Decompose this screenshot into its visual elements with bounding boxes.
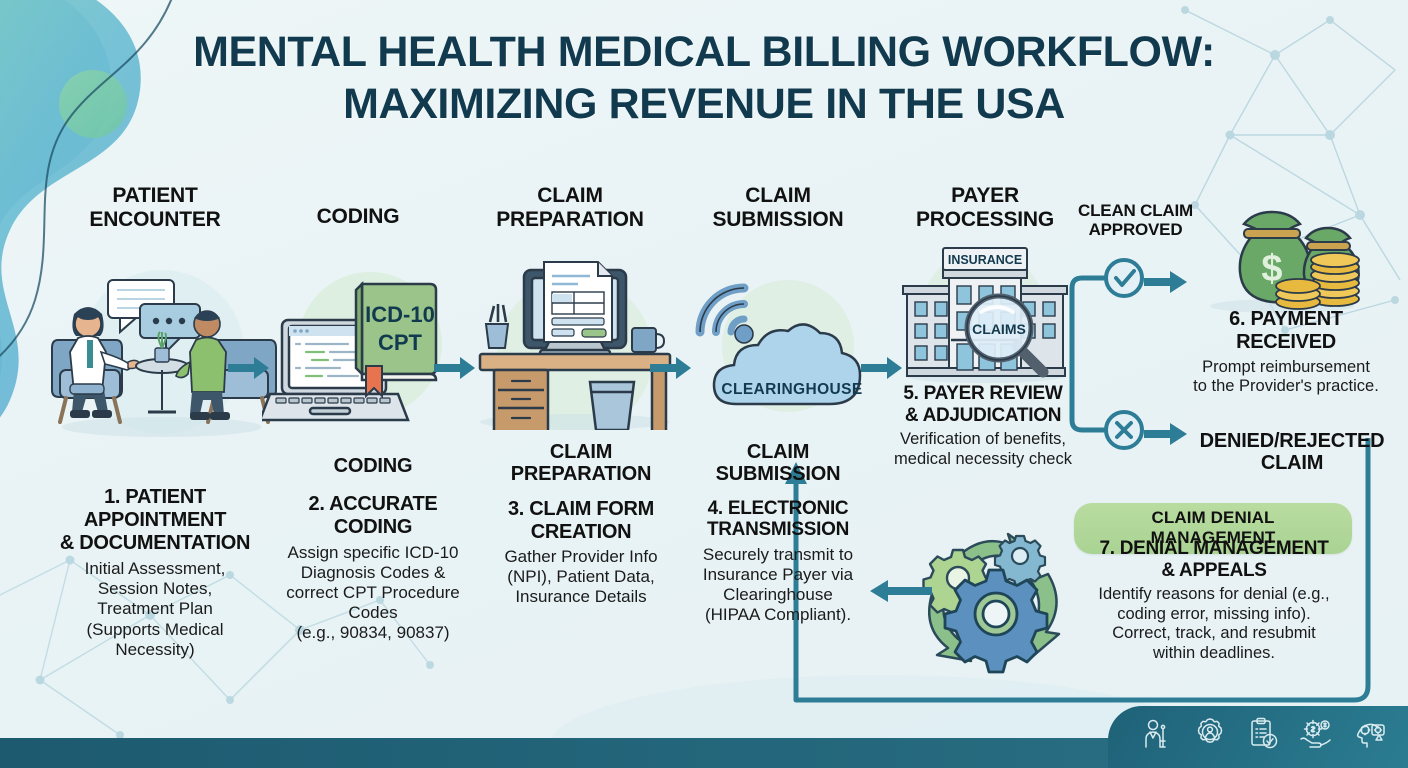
hand-gear-money-icon	[1299, 717, 1333, 751]
infographic-canvas: MENTAL HEALTH MEDICAL BILLING WORKFLOW: …	[0, 0, 1408, 768]
book-line-1: ICD-10	[365, 302, 435, 327]
page-title: MENTAL HEALTH MEDICAL BILLING WORKFLOW: …	[0, 26, 1408, 131]
step-7-title: 7. DENIAL MANAGEMENT & APPEALS	[1068, 538, 1360, 581]
header-claim-submission: CLAIM SUBMISSION	[678, 184, 878, 231]
step-1-block: 1. PATIENT APPOINTMENT & DOCUMENTATION I…	[36, 486, 274, 660]
step-3-title: 3. CLAIM FORM CREATION	[474, 498, 688, 544]
step-2-title: 2. ACCURATE CODING	[262, 493, 484, 539]
step-7-description: Identify reasons for denial (e.g., codin…	[1068, 585, 1360, 663]
payment-received-illustration: $ $	[1208, 196, 1368, 316]
patient-encounter-illustration	[44, 252, 288, 442]
header-claim-preparation: CLAIM PREPARATION	[460, 184, 680, 231]
step-6-title: 6. PAYMENT RECEIVED	[1172, 308, 1400, 354]
coding-illustration: ICD-10 CPT	[262, 262, 462, 438]
sublabel-claim-preparation: CLAIM PREPARATION	[474, 441, 688, 486]
header-patient-encounter: PATIENT ENCOUNTER	[40, 184, 270, 231]
payer-processing-illustration: INSURANCE CLAIMS	[893, 246, 1078, 386]
step-5-description: Verification of benefits, medical necess…	[872, 430, 1094, 469]
sublabel-claim-submission: CLAIM SUBMISSION	[680, 441, 876, 486]
step-6-description: Prompt reimbursement to the Provider's p…	[1172, 358, 1400, 397]
head-gears-icon	[1352, 717, 1386, 751]
step-1-title: 1. PATIENT APPOINTMENT & DOCUMENTATION	[36, 486, 274, 554]
clipboard-check-icon	[1246, 717, 1280, 751]
step-2-description: Assign specific ICD-10 Diagnosis Codes &…	[262, 543, 484, 643]
claim-preparation-illustration	[466, 250, 684, 430]
step-5-title: 5. PAYER REVIEW & ADJUDICATION	[872, 383, 1094, 426]
gear-person-icon	[1193, 717, 1227, 751]
header-payer-processing: PAYER PROCESSING	[885, 184, 1085, 231]
step-4-block: CLAIM SUBMISSION 4. ELECTRONIC TRANSMISS…	[680, 441, 876, 625]
step-3-block: CLAIM PREPARATION 3. CLAIM FORM CREATION…	[474, 441, 688, 608]
step-3-description: Gather Provider Info (NPI), Patient Data…	[474, 547, 688, 607]
title-line-2: MAXIMIZING REVENUE IN THE USA	[0, 78, 1408, 130]
step-7-block: 7. DENIAL MANAGEMENT & APPEALS Identify …	[1068, 538, 1360, 663]
header-coding: CODING	[268, 205, 448, 229]
step-4-description: Securely transmit to Insurance Payer via…	[680, 545, 876, 625]
step-1-description: Initial Assessment, Session Notes, Treat…	[36, 559, 274, 659]
sublabel-coding: CODING	[262, 455, 484, 477]
bottom-icon-panel	[1108, 706, 1408, 768]
cloud-label: CLEARINGHOUSE	[721, 381, 862, 398]
magnifier-label: CLAIMS	[972, 321, 1026, 337]
step-4-title: 4. ELECTRONIC TRANSMISSION	[680, 498, 876, 541]
step-2-block: CODING 2. ACCURATE CODING Assign specifi…	[262, 455, 484, 643]
step-5-block: 5. PAYER REVIEW & ADJUDICATION Verificat…	[872, 383, 1094, 469]
outcome-denied-rejected-claim: DENIED/REJECTED CLAIM	[1180, 430, 1404, 475]
claim-submission-illustration: CLEARINGHOUSE	[684, 278, 880, 430]
doctor-icon	[1140, 717, 1174, 751]
book-line-2: CPT	[378, 330, 423, 355]
building-sign-label: INSURANCE	[948, 253, 1022, 267]
step-6-block: 6. PAYMENT RECEIVED Prompt reimbursement…	[1172, 308, 1400, 397]
title-line-1: MENTAL HEALTH MEDICAL BILLING WORKFLOW:	[193, 28, 1215, 76]
